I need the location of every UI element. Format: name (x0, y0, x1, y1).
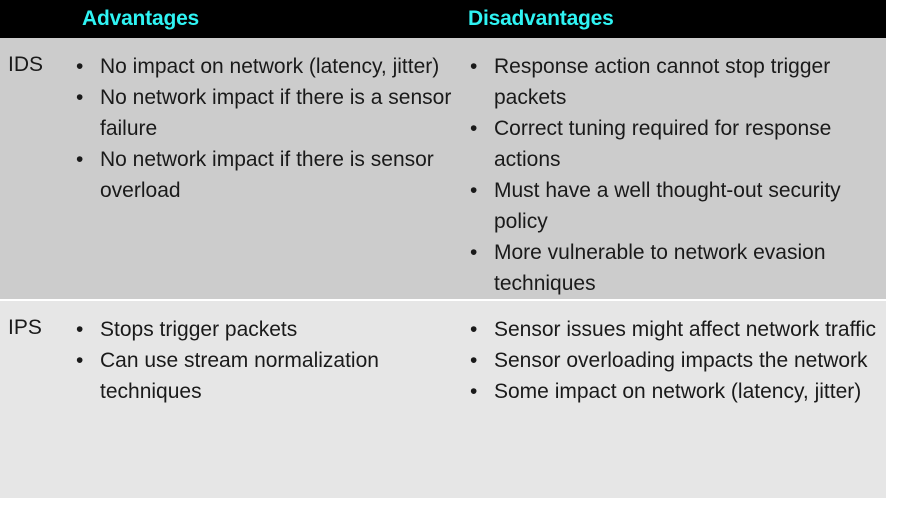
bullet-icon: • (76, 345, 83, 376)
bullet-icon: • (470, 113, 477, 144)
bullet-icon: • (76, 82, 83, 113)
list-item-text: No impact on network (latency, jitter) (100, 51, 452, 82)
row-label-ips: IPS (0, 301, 72, 498)
table-header-row: Advantages Disadvantages (0, 0, 886, 38)
bullet-icon: • (76, 51, 83, 82)
table-row: IPS • Stops trigger packets • Can use st… (0, 301, 886, 498)
table-row: IDS • No impact on network (latency, jit… (0, 38, 886, 301)
list-item-text: No network impact if there is sensor ove… (100, 144, 452, 206)
bullet-icon: • (470, 51, 477, 82)
list-item: • Some impact on network (latency, jitte… (466, 376, 886, 407)
list-item: • Response action cannot stop trigger pa… (466, 51, 886, 113)
list-item: • Must have a well thought-out security … (466, 175, 886, 237)
list-item: • Sensor issues might affect network tra… (466, 314, 886, 345)
bullet-list-ips-disadvantages: • Sensor issues might affect network tra… (466, 314, 886, 407)
list-item-text: Can use stream normalization techniques (100, 345, 452, 407)
list-item-text: No network impact if there is a sensor f… (100, 82, 452, 144)
list-item-text: Sensor overloading impacts the network (494, 345, 886, 376)
bullet-list-ids-advantages: • No impact on network (latency, jitter)… (72, 51, 452, 206)
list-item-text: Stops trigger packets (100, 314, 452, 345)
list-item-text: More vulnerable to network evasion techn… (494, 237, 886, 299)
list-item: • Sensor overloading impacts the network (466, 345, 886, 376)
bullet-icon: • (470, 237, 477, 268)
list-item-text: Correct tuning required for response act… (494, 113, 886, 175)
cell-ips-advantages: • Stops trigger packets • Can use stream… (72, 301, 452, 498)
cell-ips-disadvantages: • Sensor issues might affect network tra… (452, 301, 886, 498)
bullet-list-ips-advantages: • Stops trigger packets • Can use stream… (72, 314, 452, 407)
column-header-disadvantages: Disadvantages (452, 0, 886, 38)
list-item-text: Must have a well thought-out security po… (494, 175, 886, 237)
column-header-advantages: Advantages (0, 0, 452, 38)
list-item: • Correct tuning required for response a… (466, 113, 886, 175)
list-item: • No impact on network (latency, jitter) (72, 51, 452, 82)
cell-ids-disadvantages: • Response action cannot stop trigger pa… (452, 38, 886, 299)
bullet-icon: • (76, 144, 83, 175)
bullet-icon: • (470, 175, 477, 206)
bullet-icon: • (470, 314, 477, 345)
bullet-icon: • (76, 314, 83, 345)
list-item-text: Response action cannot stop trigger pack… (494, 51, 886, 113)
list-item: • No network impact if there is a sensor… (72, 82, 452, 144)
bullet-list-ids-disadvantages: • Response action cannot stop trigger pa… (466, 51, 886, 299)
list-item-text: Sensor issues might affect network traff… (494, 314, 886, 345)
row-label-ids: IDS (0, 38, 72, 299)
bullet-icon: • (470, 376, 477, 407)
list-item: • No network impact if there is sensor o… (72, 144, 452, 206)
bullet-icon: • (470, 345, 477, 376)
cell-ids-advantages: • No impact on network (latency, jitter)… (72, 38, 452, 299)
list-item: • Stops trigger packets (72, 314, 452, 345)
list-item-text: Some impact on network (latency, jitter) (494, 376, 886, 407)
list-item: • More vulnerable to network evasion tec… (466, 237, 886, 299)
list-item: • Can use stream normalization technique… (72, 345, 452, 407)
comparison-table: Advantages Disadvantages IDS • No impact… (0, 0, 886, 500)
